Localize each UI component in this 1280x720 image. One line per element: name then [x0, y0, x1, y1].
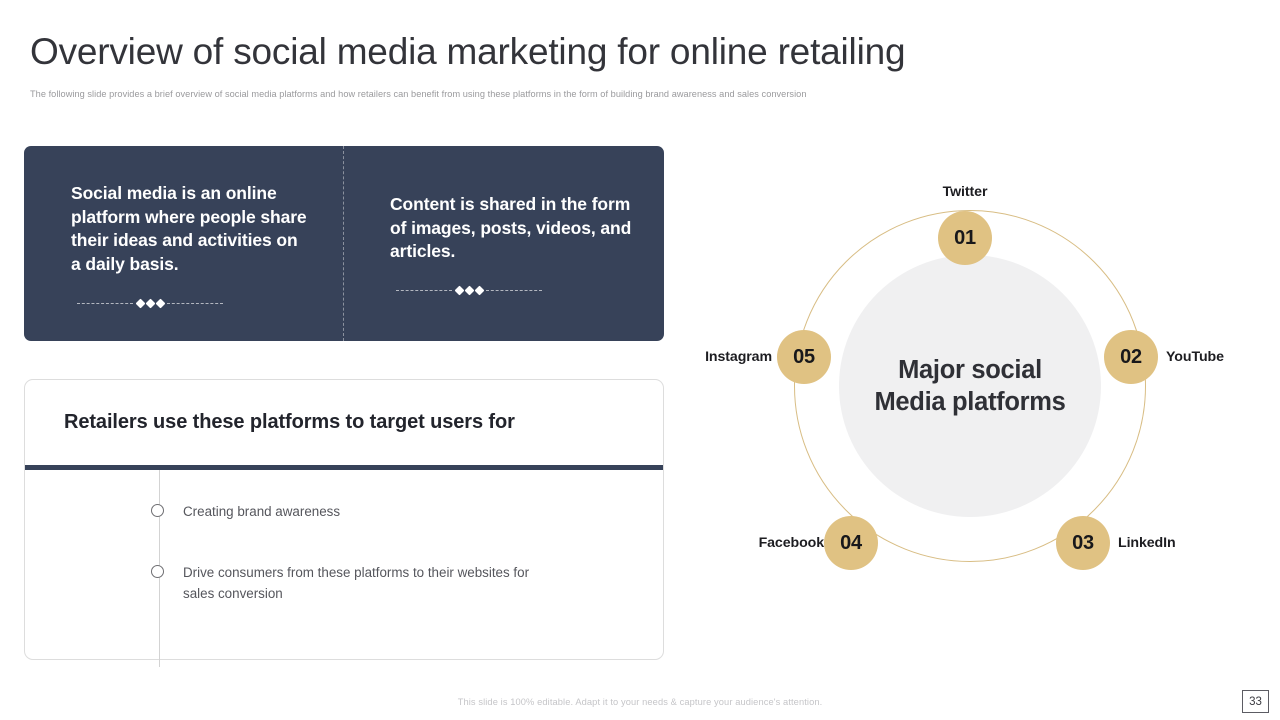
divider-dash-left [396, 290, 452, 291]
circle-bullet-icon [151, 504, 164, 517]
diagram-badge-04[interactable]: 04 [824, 516, 878, 570]
page-subtitle: The following slide provides a brief ove… [30, 89, 807, 99]
divider-dash-right [167, 303, 223, 304]
diamond-1-icon [136, 299, 146, 309]
list-item-label: Creating brand awareness [183, 502, 340, 523]
navy-left-text: Social media is an online platform where… [71, 182, 310, 277]
diagram-label-twitter: Twitter [938, 184, 992, 200]
card-heading: Retailers use these platforms to target … [64, 411, 515, 434]
diamond-divider-icon [77, 299, 223, 309]
diagram-badge-03[interactable]: 03 [1056, 516, 1110, 570]
diamond-2-icon [465, 286, 475, 296]
page-title: Overview of social media marketing for o… [30, 31, 905, 74]
navy-panel-left-column: Social media is an online platform where… [24, 146, 344, 341]
list-item-label: Drive consumers from these platforms to … [183, 563, 533, 605]
diamond-divider-icon [396, 286, 542, 296]
divider-dash-left [77, 303, 133, 304]
diagram-label-instagram: Instagram [688, 349, 772, 365]
social-platforms-circular-diagram: Major social Media platforms 01 02 03 04… [689, 171, 1255, 595]
diagram-center-line-1: Major social [898, 354, 1042, 386]
navy-panel-right-column: Content is shared in the form of images,… [344, 146, 664, 341]
divider-dash-right [486, 290, 542, 291]
list-item: Creating brand awareness [151, 502, 340, 523]
diagram-badge-01[interactable]: 01 [938, 211, 992, 265]
navy-info-panel: Social media is an online platform where… [24, 146, 664, 341]
diamond-1-icon [455, 286, 465, 296]
diamond-2-icon [146, 299, 156, 309]
page-number-badge: 33 [1242, 690, 1269, 713]
navy-right-text: Content is shared in the form of images,… [390, 193, 634, 264]
diagram-badge-02[interactable]: 02 [1104, 330, 1158, 384]
list-item: Drive consumers from these platforms to … [151, 563, 533, 605]
footer-note: This slide is 100% editable. Adapt it to… [0, 697, 1280, 707]
diagram-label-linkedin: LinkedIn [1118, 535, 1176, 551]
diamond-3-icon [156, 299, 166, 309]
diagram-center-label: Major social Media platforms [839, 255, 1101, 517]
diagram-label-youtube: YouTube [1166, 349, 1224, 365]
circle-bullet-icon [151, 565, 164, 578]
diagram-badge-05[interactable]: 05 [777, 330, 831, 384]
diagram-label-facebook: Facebook [738, 535, 824, 551]
retailers-card: Retailers use these platforms to target … [24, 379, 664, 660]
diagram-center-line-2: Media platforms [874, 386, 1065, 418]
diamond-3-icon [475, 286, 485, 296]
card-heading-rule [25, 465, 663, 470]
slide-canvas: Overview of social media marketing for o… [0, 0, 1280, 720]
